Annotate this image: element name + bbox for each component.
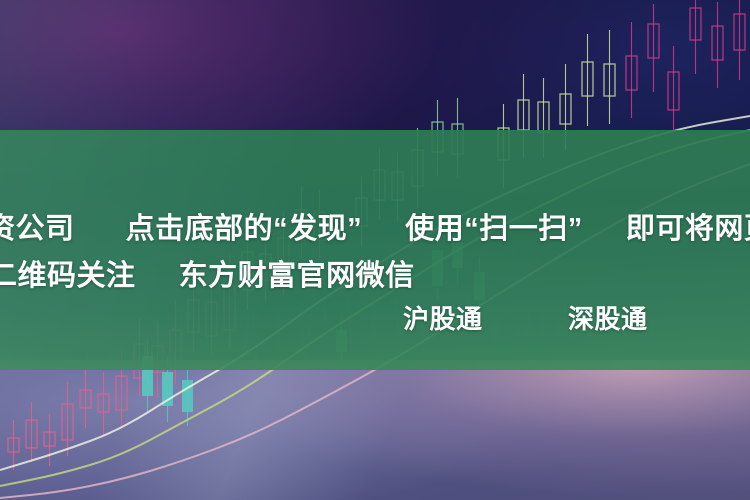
hu-gu-tong-label: 沪股通 (403, 304, 483, 334)
instruction-line-2: 二维码关注 东方财富官网微信 (0, 252, 415, 294)
promo-banner: 资公司 点击底部的“发现” 使用“扫一扫” 即可将网页分享 二维码关注 东方财富… (0, 0, 750, 500)
qr-hint-text: 二维码关注 (0, 260, 136, 292)
shen-gu-tong-label: 深股通 (568, 304, 648, 334)
market-channel-line: 沪股通 深股通 (403, 299, 648, 336)
wechat-account-text: 东方财富官网微信 (179, 260, 415, 292)
text-layer: 资公司 点击底部的“发现” 使用“扫一扫” 即可将网页分享 二维码关注 东方财富… (0, 0, 750, 500)
scan-hint-text: 使用“扫一扫” (405, 213, 583, 245)
company-fragment-text: 资公司 (0, 213, 75, 245)
discover-hint-text: 点击底部的“发现” (126, 213, 363, 245)
instruction-line-1: 资公司 点击底部的“发现” 使用“扫一扫” 即可将网页分享 (0, 205, 750, 247)
share-hint-text: 即可将网页分享 (626, 213, 750, 245)
